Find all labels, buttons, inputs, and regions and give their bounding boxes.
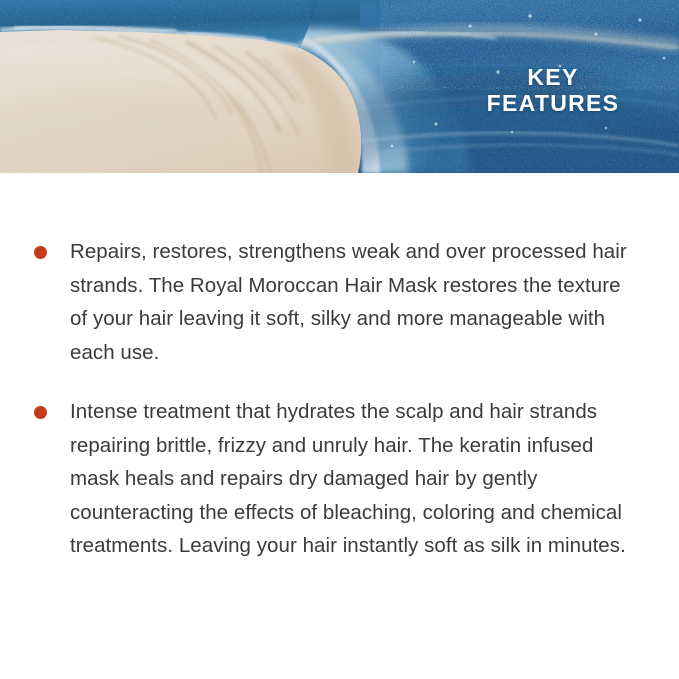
list-item: Intense treatment that hydrates the scal… <box>0 395 679 563</box>
feature-text: Intense treatment that hydrates the scal… <box>70 395 633 563</box>
beach-aerial-photo <box>0 0 679 173</box>
hero-banner: KEY FEATURES <box>0 0 679 173</box>
bullet-dot-icon <box>34 406 47 419</box>
bullet-dot-icon <box>34 246 47 259</box>
key-features-page: KEY FEATURES Repairs, restores, strength… <box>0 0 679 679</box>
features-section: Repairs, restores, strengthens weak and … <box>0 173 679 563</box>
feature-list: Repairs, restores, strengthens weak and … <box>0 235 679 563</box>
list-item: Repairs, restores, strengthens weak and … <box>0 235 679 369</box>
feature-text: Repairs, restores, strengthens weak and … <box>70 235 633 369</box>
